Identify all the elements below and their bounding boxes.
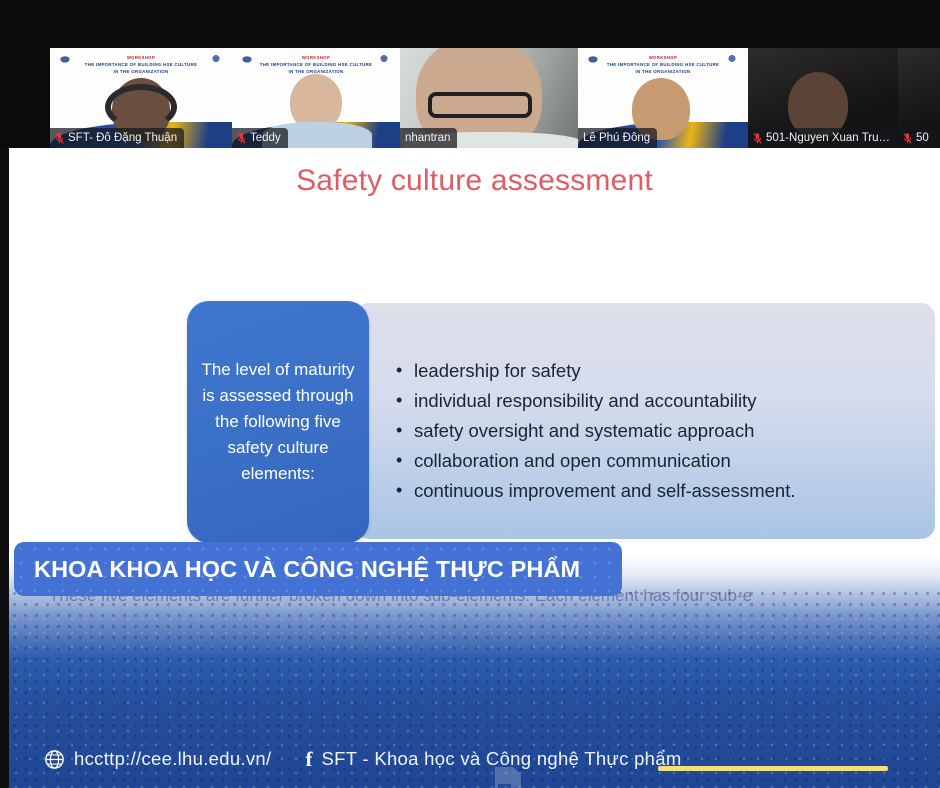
participant-name-badge: SFT- Đỗ Đặng Thuận <box>50 128 184 148</box>
participant-glasses-icon <box>428 92 532 118</box>
participant-name: nhantran <box>405 132 450 144</box>
video-tile[interactable]: 50 <box>898 48 940 148</box>
tile-bg-workshop-label: WORKSHOP <box>50 55 232 60</box>
mic-muted-icon <box>903 132 912 145</box>
maturity-callout-box: The level of maturity is assessed throug… <box>187 301 369 543</box>
participant-name-badge: Teddy <box>232 128 288 148</box>
participant-name: 501-Nguyen Xuan Tru… <box>766 132 890 144</box>
mic-muted-icon <box>753 132 762 145</box>
video-tile-active-speaker[interactable]: nhantran <box>400 48 578 148</box>
bullet-item: collaboration and open communication <box>392 446 932 476</box>
participant-name: SFT- Đỗ Đặng Thuận <box>68 132 177 144</box>
tile-bg-title: THE IMPORTANCE OF BUILDING HSE CULTURE I… <box>50 62 232 75</box>
department-banner: KHOA KHOA HỌC VÀ CÔNG NGHỆ THỰC PHẨM <box>14 542 622 596</box>
video-tile[interactable]: WORKSHOP THE IMPORTANCE OF BUILDING HSE … <box>50 48 232 148</box>
banner-dot-pattern <box>14 542 622 596</box>
screen: WORKSHOP THE IMPORTANCE OF BUILDING HSE … <box>0 0 940 788</box>
participant-name: 50 <box>916 132 929 144</box>
video-tile[interactable]: 501-Nguyen Xuan Tru… <box>748 48 898 148</box>
tile-bg-workshop-label: WORKSHOP <box>578 55 748 60</box>
participant-name-badge: 50 <box>898 128 936 148</box>
bullet-item: continuous improvement and self-assessme… <box>392 476 932 506</box>
tile-bg-workshop-label: WORKSHOP <box>232 55 400 60</box>
video-tile[interactable]: WORKSHOP THE IMPORTANCE OF BUILDING HSE … <box>232 48 400 148</box>
video-tile-strip: WORKSHOP THE IMPORTANCE OF BUILDING HSE … <box>50 48 940 148</box>
participant-name: Teddy <box>250 132 281 144</box>
bullet-item: safety oversight and systematic approach <box>392 416 932 446</box>
mic-muted-icon <box>237 132 246 145</box>
bullet-item: leadership for safety <box>392 356 932 386</box>
participant-headset-icon <box>105 84 177 130</box>
slide-bullet-list: leadership for safety individual respons… <box>392 356 932 506</box>
video-tile[interactable]: WORKSHOP THE IMPORTANCE OF BUILDING HSE … <box>578 48 748 148</box>
footer-facebook-text: SFT - Khoa học và Công nghệ Thực phẩm <box>321 748 681 770</box>
facebook-icon: f <box>305 749 312 770</box>
poster-footer: hccttp://cee.lhu.edu.vn/ f SFT - Khoa họ… <box>0 730 940 788</box>
footer-website-text: hccttp://cee.lhu.edu.vn/ <box>74 748 271 770</box>
globe-icon <box>44 749 65 770</box>
slide-title: Safety culture assessment <box>9 164 940 198</box>
maturity-callout-text: The level of maturity is assessed throug… <box>187 357 369 487</box>
participant-name-badge: nhantran <box>400 128 457 148</box>
participant-name-badge: Lê Phú Đông <box>578 128 657 148</box>
participant-name: Lê Phú Đông <box>583 132 650 144</box>
mic-muted-icon <box>55 132 64 145</box>
footer-website[interactable]: hccttp://cee.lhu.edu.vn/ <box>44 748 271 770</box>
bullet-item: individual responsibility and accountabi… <box>392 386 932 416</box>
tile-bg-title: THE IMPORTANCE OF BUILDING HSE CULTURE I… <box>578 62 748 75</box>
participant-name-badge: 501-Nguyen Xuan Tru… <box>748 128 897 148</box>
shared-screen-poster: Safety culture assessment The level of m… <box>0 148 940 788</box>
footer-facebook[interactable]: f SFT - Khoa học và Công nghệ Thực phẩm <box>305 748 681 770</box>
